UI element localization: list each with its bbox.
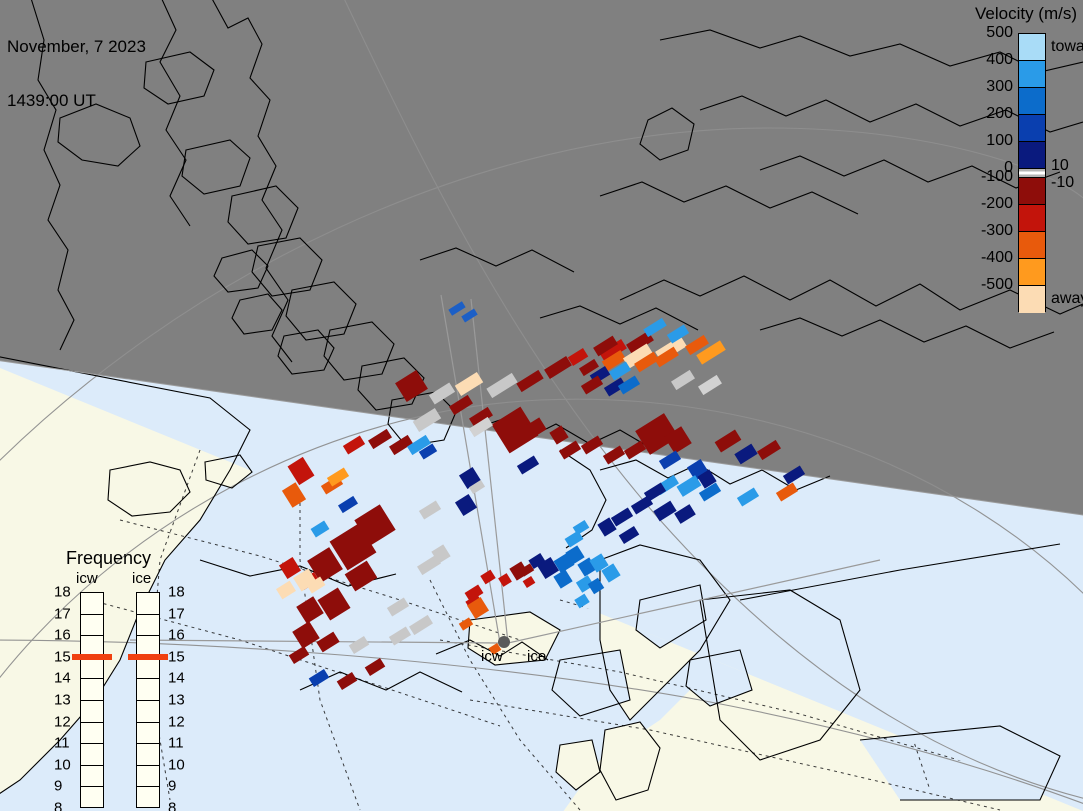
- frequency-tick-row: [137, 679, 159, 701]
- frequency-tick-label: 13: [168, 692, 185, 709]
- radar-echo-cell: [581, 435, 603, 454]
- frequency-tick-label: 8: [54, 800, 62, 811]
- radar-echo-cell: [389, 435, 413, 455]
- frequency-tick-row: [81, 658, 103, 680]
- radar-echo-cell: [671, 370, 695, 390]
- radar-echo-cell: [698, 375, 722, 395]
- radar-echo-cell: [659, 450, 681, 469]
- velocity-toward-label: toward: [1051, 38, 1083, 56]
- velocity-swatch: [1019, 115, 1045, 142]
- velocity-swatch: [1019, 205, 1045, 232]
- radar-echo-cell: [480, 570, 495, 585]
- frequency-tick-row: [81, 615, 103, 637]
- radar-echo-cell: [486, 373, 517, 398]
- radar-echo-cell: [448, 301, 465, 315]
- radar-echo-cell: [455, 494, 477, 516]
- velocity-tick-label: -300: [981, 222, 1013, 240]
- frequency-tick-label: 11: [168, 735, 184, 752]
- velocity-swatch: [1019, 34, 1045, 61]
- radar-echo-cell: [338, 496, 358, 513]
- velocity-colorbar-title: Velocity (m/s): [975, 4, 1077, 24]
- velocity-tick-label: 300: [986, 78, 1013, 96]
- frequency-legend: Frequency icwice181716151413121110981817…: [58, 548, 188, 788]
- radar-echo-cell: [559, 440, 581, 459]
- frequency-tick-label: 15: [54, 648, 71, 665]
- radar-echo-cell: [611, 507, 633, 526]
- frequency-tick-label: 10: [54, 756, 71, 773]
- radar-map-screenshot: November, 7 2023 1439:00 UT Velocity (m/…: [0, 0, 1083, 811]
- frequency-tick-label: 12: [168, 713, 185, 730]
- frequency-tick-row: [81, 766, 103, 788]
- velocity-tick-label: 200: [986, 105, 1013, 123]
- velocity-swatch: [1019, 142, 1045, 169]
- frequency-marker: [128, 654, 168, 660]
- radar-echo-cell: [389, 626, 411, 645]
- radar-echo-cell: [498, 573, 512, 587]
- frequency-tick-label: 15: [168, 648, 185, 665]
- velocity-tick-label: -100: [981, 168, 1013, 186]
- frequency-legend-title: Frequency: [66, 548, 151, 569]
- radar-echo-cell: [523, 576, 536, 588]
- radar-echo-cell: [395, 370, 428, 402]
- radar-echo-cell: [568, 348, 589, 366]
- radar-echo-cell: [461, 309, 477, 323]
- frequency-tick-row: [81, 701, 103, 723]
- frequency-tick-label: 16: [168, 627, 185, 644]
- velocity-tick-label: -500: [981, 276, 1013, 294]
- radar-echo-cell: [413, 408, 441, 432]
- velocity-swatch: [1019, 259, 1045, 286]
- frequency-tick-row: [137, 766, 159, 788]
- frequency-bar: [80, 592, 104, 808]
- velocity-colorbar-swatches: [1018, 33, 1046, 312]
- radar-echo-cell: [574, 594, 589, 609]
- timestamp-block: November, 7 2023 1439:00 UT: [7, 2, 146, 146]
- radar-echo-cell: [737, 487, 759, 506]
- radar-echo-cell: [288, 457, 315, 485]
- frequency-tick-label: 17: [54, 605, 71, 622]
- radar-echo-cell: [365, 658, 386, 676]
- radar-echo-cell: [653, 501, 676, 522]
- radar-echo-cell: [409, 615, 433, 635]
- frequency-tick-row: [137, 723, 159, 745]
- radar-echo-cell: [517, 455, 539, 474]
- radar-echo-cell: [349, 636, 370, 654]
- timestamp-time: 1439:00 UT: [7, 92, 146, 110]
- radar-echo-cell: [455, 372, 483, 396]
- radar-echo-cell: [674, 504, 696, 524]
- frequency-tick-label: 18: [168, 584, 185, 601]
- radar-echo-cell: [292, 621, 320, 649]
- station-label-ice: ice: [527, 648, 546, 665]
- radar-echo-cell: [429, 382, 455, 404]
- frequency-tick-row: [137, 744, 159, 766]
- frequency-column-header: icw: [76, 570, 98, 587]
- velocity-swatch: [1019, 232, 1045, 259]
- radar-echo-cell: [619, 526, 640, 544]
- frequency-marker: [72, 654, 112, 660]
- frequency-tick-row: [137, 615, 159, 637]
- frequency-tick-label: 9: [168, 778, 176, 795]
- velocity-swatch: [1019, 61, 1045, 88]
- radar-echo-cell: [276, 581, 296, 600]
- radar-echo-cell: [311, 521, 330, 538]
- radar-echo-cell: [757, 440, 781, 460]
- radar-echo-cell: [419, 500, 441, 519]
- velocity-tick-label: 100: [986, 132, 1013, 150]
- frequency-tick-label: 18: [54, 584, 71, 601]
- frequency-tick-label: 17: [168, 605, 185, 622]
- radar-echo-cell: [603, 445, 625, 464]
- radar-echo-cell: [343, 435, 365, 454]
- velocity-zero-gap: [1019, 169, 1045, 178]
- radar-echo-cell: [368, 429, 392, 449]
- radar-echo-cell: [337, 672, 358, 690]
- radar-echo-cell: [544, 356, 572, 379]
- frequency-tick-label: 8: [168, 800, 176, 811]
- frequency-tick-label: 11: [54, 735, 70, 752]
- frequency-tick-label: 16: [54, 627, 71, 644]
- station-label-icw: icw: [481, 648, 503, 665]
- frequency-tick-label: 14: [54, 670, 71, 687]
- radar-echo-cell: [565, 531, 584, 548]
- velocity-swatch: [1019, 88, 1045, 115]
- velocity-swatch: [1019, 286, 1045, 313]
- frequency-tick-label: 13: [54, 692, 71, 709]
- velocity-swatch: [1019, 178, 1045, 205]
- velocity-tick-label: 400: [986, 51, 1013, 69]
- frequency-tick-label: 12: [54, 713, 71, 730]
- radar-echo-cell: [776, 482, 798, 501]
- velocity-away-label: away: [1051, 290, 1083, 308]
- radar-echo-cell: [459, 617, 473, 630]
- frequency-tick-row: [81, 593, 103, 615]
- frequency-tick-row: [137, 701, 159, 723]
- frequency-tick-row: [137, 787, 159, 809]
- velocity-positive-threshold-label: 10: [1051, 157, 1069, 175]
- frequency-tick-row: [137, 593, 159, 615]
- radar-echo-cell: [309, 669, 330, 687]
- frequency-tick-row: [81, 744, 103, 766]
- frequency-tick-row: [81, 679, 103, 701]
- radar-echo-cell: [289, 646, 310, 664]
- velocity-negative-threshold-label: -10: [1051, 174, 1074, 192]
- frequency-tick-row: [81, 787, 103, 809]
- timestamp-date: November, 7 2023: [7, 38, 146, 56]
- radar-echo-cell: [643, 318, 666, 337]
- velocity-tick-label: 500: [986, 24, 1013, 42]
- frequency-tick-row: [81, 723, 103, 745]
- radar-echo-cell: [549, 425, 568, 444]
- frequency-tick-row: [137, 658, 159, 680]
- radar-echo-cell: [317, 587, 350, 620]
- frequency-column-header: ice: [132, 570, 151, 587]
- velocity-colorbar: Velocity (m/s) 5004003002001000-100-200-…: [955, 0, 1083, 330]
- radar-echo-cell: [734, 444, 757, 465]
- frequency-bar: [136, 592, 160, 808]
- radar-echo-cell: [282, 482, 306, 507]
- frequency-tick-label: 14: [168, 670, 185, 687]
- radar-echo-cell: [387, 597, 409, 616]
- radar-echo-cell: [449, 395, 473, 415]
- velocity-tick-label: -400: [981, 249, 1013, 267]
- frequency-tick-label: 9: [54, 778, 62, 795]
- frequency-tick-label: 10: [168, 756, 185, 773]
- radar-echo-cell: [783, 465, 805, 484]
- velocity-tick-label: -200: [981, 195, 1013, 213]
- radar-echo-cell: [715, 430, 742, 453]
- radar-echo-cell: [316, 632, 339, 653]
- radar-echo-cell: [516, 370, 543, 392]
